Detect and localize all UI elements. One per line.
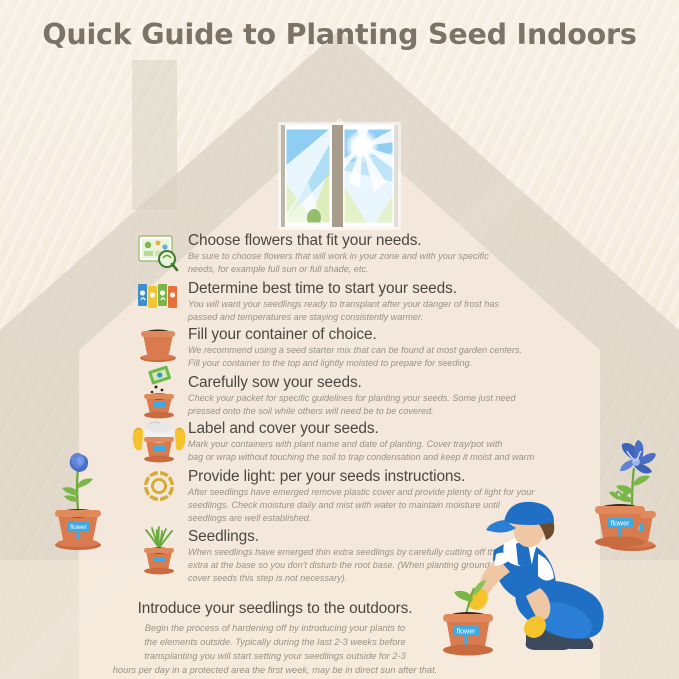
step-desc-line: Mark your containers with plant name and… [188,438,566,451]
outro-line: Begin the process of hardening off by in… [60,621,490,635]
step-desc-line: pressed onto the soil while others will … [188,405,566,418]
step-heading: Provide light: per your seeds instructio… [188,468,566,485]
step-item: Choose flowers that fit your needs. Be s… [136,232,566,280]
step-desc-line: Be sure to choose flowers that will work… [188,250,566,263]
step-desc-line: We recommend using a seed starter mix th… [188,344,566,357]
sun-light-icon [136,470,182,516]
step-item: Determine best time to start your seeds.… [136,280,566,326]
seed-catalog-magnifier-icon [136,232,182,278]
outro-heading: Introduce your seedlings to the outdoors… [60,600,490,618]
seedling-pot-icon [136,522,182,568]
step-item: Fill your container of choice. We recomm… [136,326,566,374]
outro-block: Introduce your seedlings to the outdoors… [60,600,490,677]
outro-line: the elements outside. Typically during t… [60,635,490,649]
step-desc-line: Fill your container to the top and light… [188,357,566,370]
step-desc-line: Check your packet for specific guideline… [188,392,566,405]
step-heading: Carefully sow your seeds. [188,374,566,391]
outro-description: Begin the process of hardening off by in… [60,621,490,678]
infographic-poster: Quick Guide to Planting Seed Indoors [0,0,679,679]
seed-packets-icon [136,280,182,326]
outro-line: hours per day in a protected area the fi… [60,663,490,677]
step-heading: Label and cover your seeds. [188,420,566,437]
gloved-hands-cover-pot-icon [130,416,188,462]
sunlit-window [278,122,401,230]
step-heading: Choose flowers that fit your needs. [188,232,566,249]
step-desc-line: bag or wrap without touching the soil to… [188,451,566,464]
outro-line: transplanting you will start setting you… [60,649,490,663]
step-heading: Determine best time to start your seeds. [188,280,566,297]
step-desc-line: needs, for example full sun or full shad… [188,263,566,276]
sowing-seeds-icon [136,366,182,412]
pot-label-text: flower [70,524,87,531]
potted-blue-flower-left: flower [36,438,120,558]
step-heading: Fill your container of choice. [188,326,566,343]
step-desc-line: You will want your seedlings ready to tr… [188,298,566,311]
step-item: Carefully sow your seeds. Check your pac… [136,374,566,420]
page-title: Quick Guide to Planting Seed Indoors [0,18,679,51]
pot-label-text: flower [611,521,630,528]
step-desc-line: passed and temperatures are staying cons… [188,311,566,324]
step-item: Label and cover your seeds. Mark your co… [136,420,566,468]
